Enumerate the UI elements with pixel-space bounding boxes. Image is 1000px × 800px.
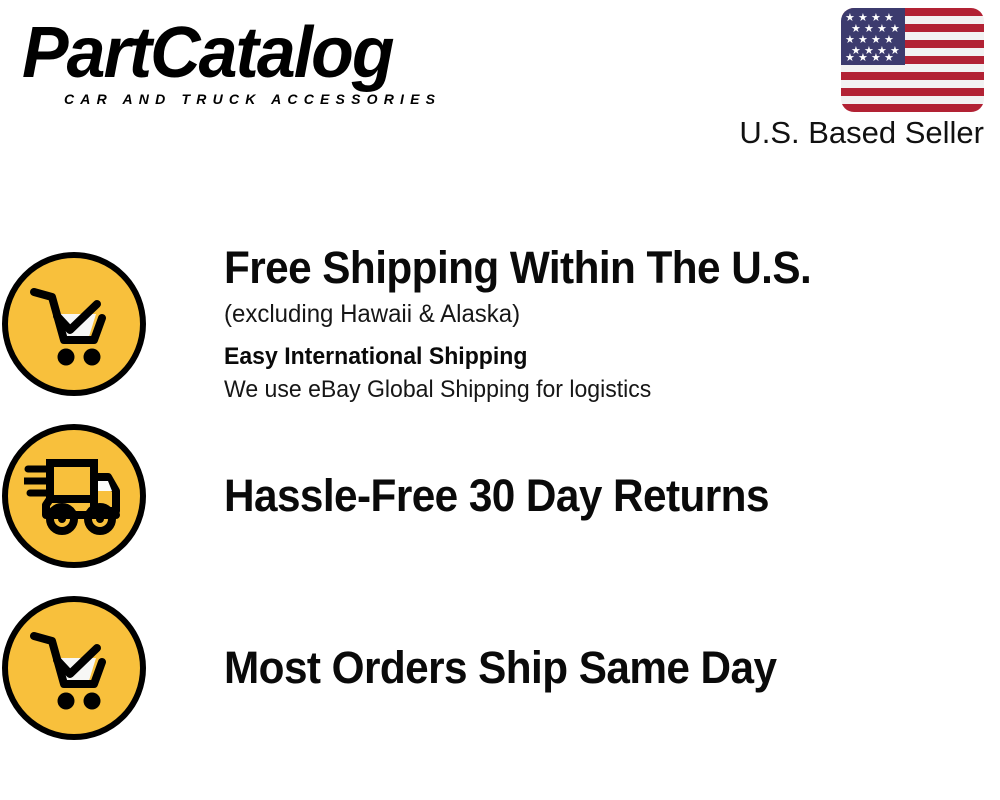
feature-text-block: Most Orders Ship Same Day xyxy=(148,643,1000,693)
feature-text-block: Hassle-Free 30 Day Returns xyxy=(148,471,1000,521)
brand-tagline: CAR AND TRUCK ACCESSORIES xyxy=(64,91,492,107)
delivery-truck-icon xyxy=(2,424,146,568)
feature-heading: Free Shipping Within The U.S. xyxy=(224,243,953,293)
brand-wordmark: PartCatalog xyxy=(22,16,478,90)
page-header: PartCatalog CAR AND TRUCK ACCESSORIES ★ … xyxy=(0,0,1000,175)
us-flag-icon: ★ ★ ★ ★ ★ ★ ★ ★ ★ ★ ★ ★ ★ ★ ★ ★ ★ ★ ★ ★ xyxy=(841,8,984,112)
feature-icon-badge xyxy=(0,252,148,396)
feature-icon-badge xyxy=(0,424,148,568)
feature-secondary-heading: Easy International Shipping xyxy=(224,341,969,373)
seller-label: U.S. Based Seller xyxy=(714,116,984,150)
feature-row: Hassle-Free 30 Day Returns xyxy=(0,410,1000,582)
feature-subtext: (excluding Hawaii & Alaska) xyxy=(224,297,969,331)
feature-heading: Most Orders Ship Same Day xyxy=(224,643,953,693)
flag-stars: ★ ★ ★ ★ ★ ★ ★ ★ ★ ★ ★ ★ ★ ★ ★ ★ ★ ★ ★ ★ xyxy=(841,8,905,65)
feature-text-block: Free Shipping Within The U.S. (excluding… xyxy=(148,243,1000,406)
shopping-cart-check-icon xyxy=(2,596,146,740)
brand-logo: PartCatalog CAR AND TRUCK ACCESSORIES xyxy=(22,16,492,116)
feature-row: Most Orders Ship Same Day xyxy=(0,582,1000,754)
feature-row: Free Shipping Within The U.S. (excluding… xyxy=(0,238,1000,410)
us-based-seller-badge: ★ ★ ★ ★ ★ ★ ★ ★ ★ ★ ★ ★ ★ ★ ★ ★ ★ ★ ★ ★ xyxy=(714,8,984,150)
feature-icon-badge xyxy=(0,596,148,740)
feature-secondary-subtext: We use eBay Global Shipping for logistic… xyxy=(224,374,969,406)
feature-heading: Hassle-Free 30 Day Returns xyxy=(224,471,953,521)
shopping-cart-check-icon xyxy=(2,252,146,396)
feature-list: Free Shipping Within The U.S. (excluding… xyxy=(0,238,1000,754)
